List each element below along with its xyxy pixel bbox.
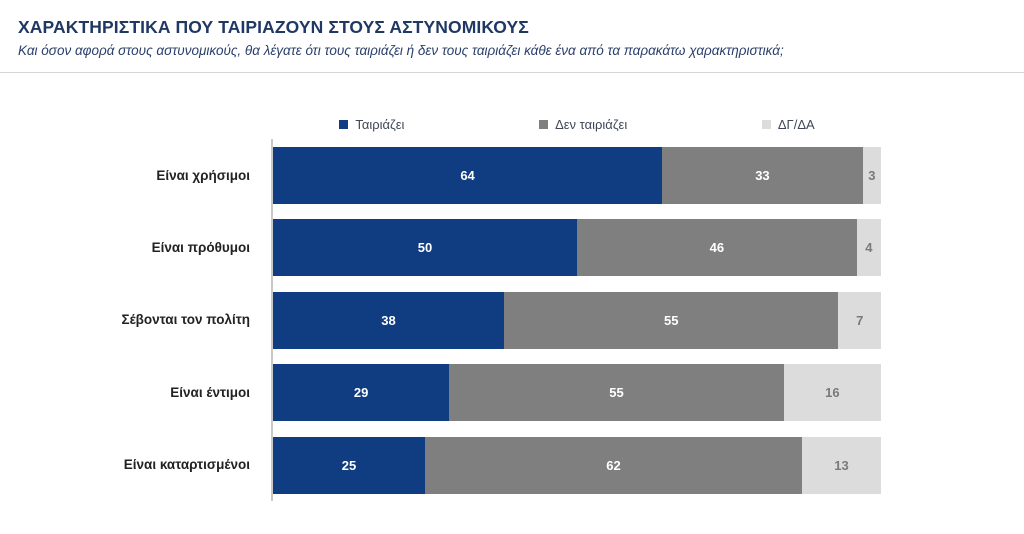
category-label: Είναι πρόθυμοι [0, 211, 262, 283]
legend-label: ΔΓ/ΔΑ [778, 117, 815, 132]
bar-segment-not-fit[interactable]: 46 [577, 219, 857, 276]
legend-item[interactable]: Δεν ταιριάζει [539, 117, 627, 132]
bar-segment-not-fit[interactable]: 33 [662, 147, 863, 204]
bar-segment-dk-na[interactable]: 4 [857, 219, 881, 276]
bar-segment-dk-na[interactable]: 13 [802, 437, 881, 494]
stacked-bar: 64333 [273, 147, 881, 204]
stacked-bar: 295516 [273, 364, 881, 421]
chart-legend: ΤαιριάζειΔεν ταιριάζειΔΓ/ΔΑ [272, 113, 882, 135]
bar-segment-fit[interactable]: 29 [273, 364, 449, 421]
chart-header: ΧΑΡΑΚΤΗΡΙΣΤΙΚΑ ΠΟΥ ΤΑΙΡΙΑΖΟΥΝ ΣΤΟΥΣ ΑΣΤΥ… [0, 0, 1024, 73]
bar-segment-not-fit[interactable]: 55 [504, 292, 838, 349]
bar-segment-dk-na[interactable]: 16 [784, 364, 881, 421]
bar-segment-dk-na[interactable]: 7 [838, 292, 881, 349]
page-subtitle: Και όσον αφορά στους αστυνομικούς, θα λέ… [18, 42, 1024, 60]
legend-swatch-icon [339, 120, 348, 129]
bar-segment-fit[interactable]: 38 [273, 292, 504, 349]
bar-row: Είναι έντιμοι295516 [0, 356, 1024, 428]
bar-segment-fit[interactable]: 50 [273, 219, 577, 276]
legend-item[interactable]: ΔΓ/ΔΑ [762, 117, 815, 132]
bar-row: Είναι πρόθυμοι50464 [0, 211, 1024, 283]
bar-row: Είναι χρήσιμοι64333 [0, 139, 1024, 211]
page-title: ΧΑΡΑΚΤΗΡΙΣΤΙΚΑ ΠΟΥ ΤΑΙΡΙΑΖΟΥΝ ΣΤΟΥΣ ΑΣΤΥ… [18, 17, 1024, 38]
bar-segment-fit[interactable]: 25 [273, 437, 425, 494]
category-label: Σέβονται τον πολίτη [0, 284, 262, 356]
stacked-bar: 38557 [273, 292, 881, 349]
legend-label: Δεν ταιριάζει [555, 117, 627, 132]
bar-segment-not-fit[interactable]: 62 [425, 437, 802, 494]
plot-area: Είναι χρήσιμοι64333Είναι πρόθυμοι50464Σέ… [0, 139, 1024, 501]
legend-swatch-icon [762, 120, 771, 129]
chart-body: ΤαιριάζειΔεν ταιριάζειΔΓ/ΔΑ Είναι χρήσιμ… [0, 73, 1024, 534]
bar-segment-not-fit[interactable]: 55 [449, 364, 783, 421]
stacked-bar: 256213 [273, 437, 881, 494]
bar-rows: Είναι χρήσιμοι64333Είναι πρόθυμοι50464Σέ… [0, 139, 1024, 501]
bar-row: Είναι καταρτισμένοι256213 [0, 429, 1024, 501]
category-label: Είναι έντιμοι [0, 356, 262, 428]
bar-row: Σέβονται τον πολίτη38557 [0, 284, 1024, 356]
legend-label: Ταιριάζει [355, 117, 404, 132]
chart-page: ΧΑΡΑΚΤΗΡΙΣΤΙΚΑ ΠΟΥ ΤΑΙΡΙΑΖΟΥΝ ΣΤΟΥΣ ΑΣΤΥ… [0, 0, 1024, 534]
legend-item[interactable]: Ταιριάζει [339, 117, 404, 132]
category-label: Είναι καταρτισμένοι [0, 429, 262, 501]
stacked-bar: 50464 [273, 219, 881, 276]
category-label: Είναι χρήσιμοι [0, 139, 262, 211]
legend-swatch-icon [539, 120, 548, 129]
bar-segment-fit[interactable]: 64 [273, 147, 662, 204]
bar-segment-dk-na[interactable]: 3 [863, 147, 881, 204]
